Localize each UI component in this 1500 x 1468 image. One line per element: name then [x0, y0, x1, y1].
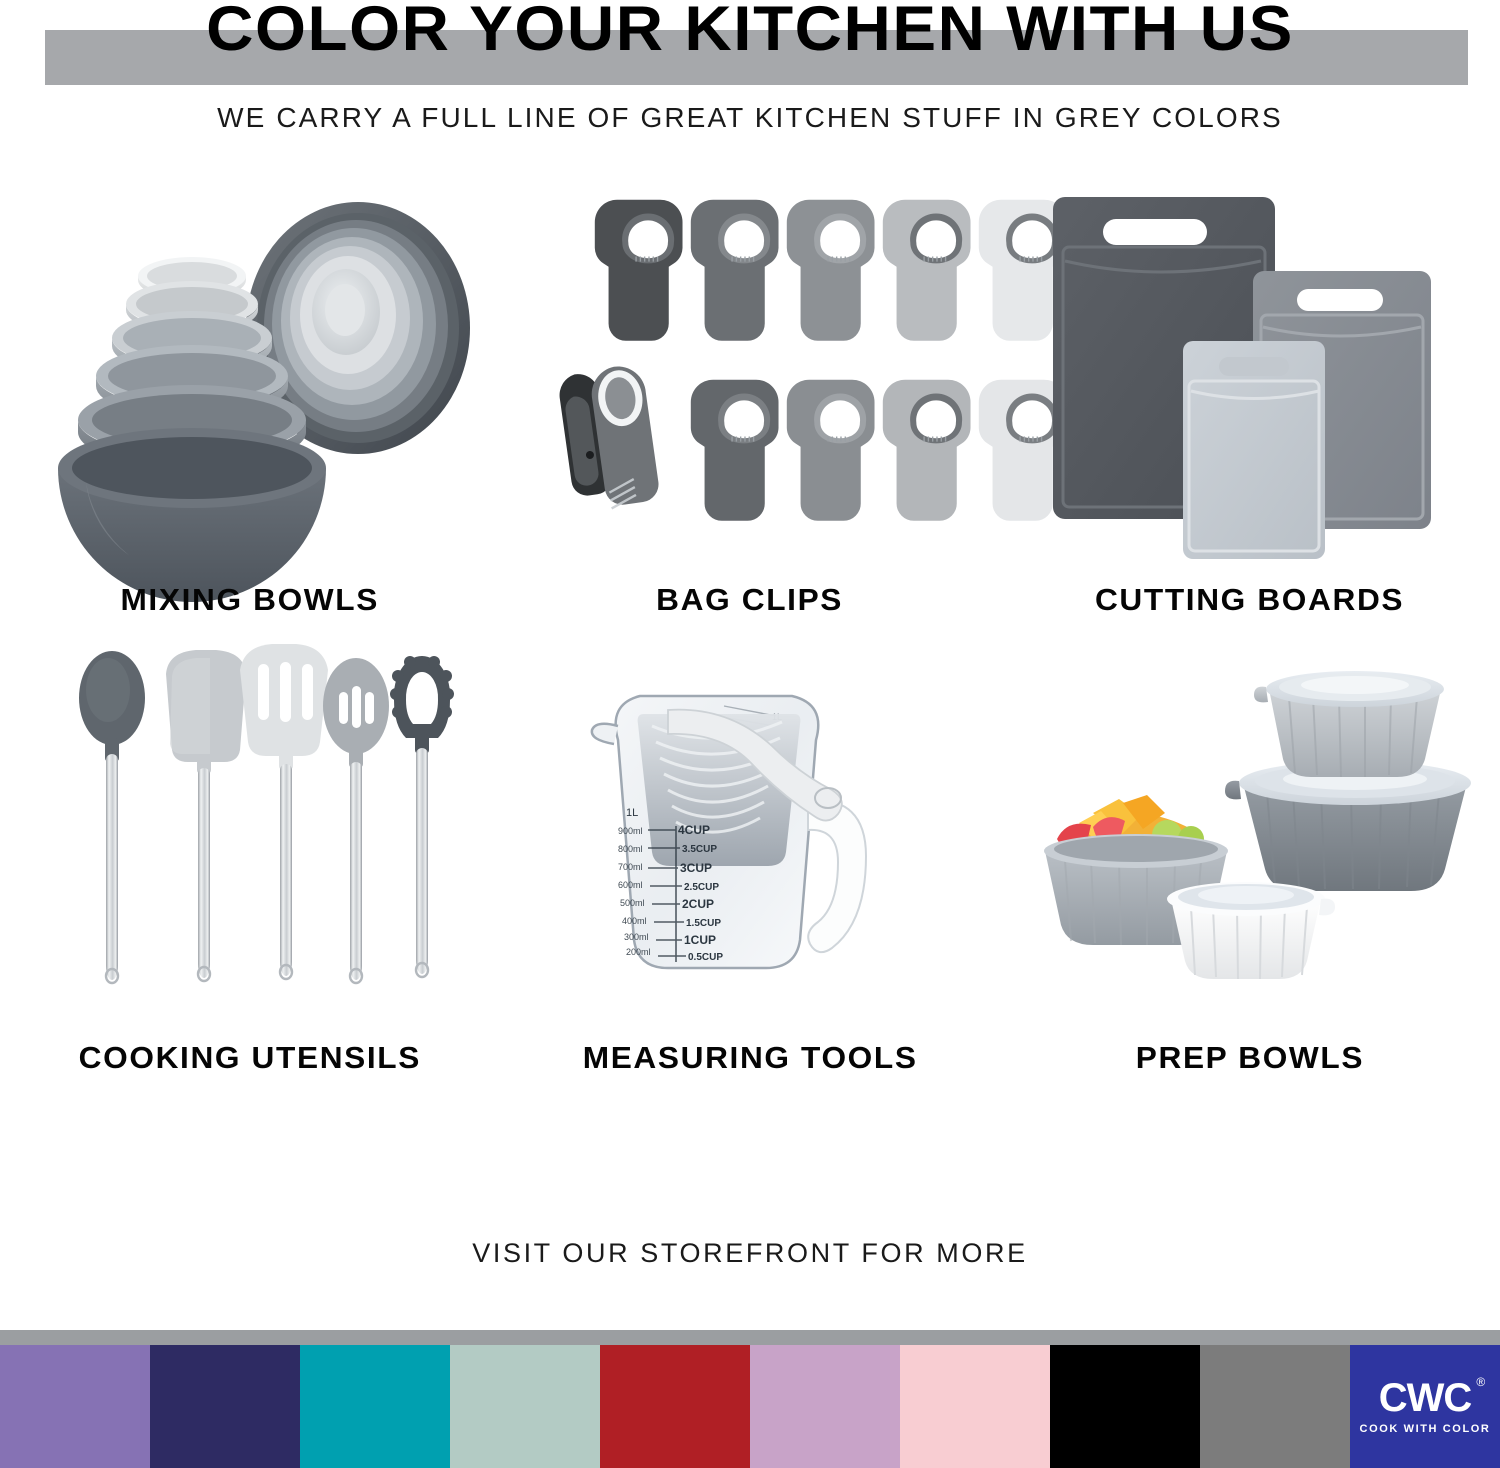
brand-logo[interactable]: CWC ® COOK WITH COLOR — [1350, 1345, 1500, 1468]
grad-ml-7: 200ml — [626, 947, 651, 957]
color-strip: CWC ® COOK WITH COLOR — [0, 1330, 1500, 1468]
grad-cup-5: 1.5CUP — [686, 918, 721, 929]
grad-ml-2: 700ml — [618, 862, 643, 872]
swatch-purple — [0, 1345, 150, 1468]
page-header: COLOR YOUR KITCHEN WITH US WE CARRY A FU… — [0, 0, 1500, 150]
color-swatches: CWC ® COOK WITH COLOR — [0, 1345, 1500, 1468]
product-card-measuring-tools[interactable]: 1L — [500, 618, 1000, 1076]
cooking-utensils-image — [20, 618, 480, 1038]
grad-ml-0: 900ml — [618, 826, 643, 836]
grad-cup-3: 2.5CUP — [684, 882, 719, 893]
product-card-prep-bowls[interactable]: PREP BOWLS — [1000, 618, 1500, 1076]
registered-trademark-icon: ® — [1476, 1376, 1484, 1388]
logo-wordmark: CWC ® — [1379, 1378, 1472, 1418]
swatch-grey — [1200, 1345, 1350, 1468]
page-title: COLOR YOUR KITCHEN WITH US — [0, 0, 1500, 61]
utensil-spatula — [166, 650, 246, 981]
product-label: MIXING BOWLS — [121, 582, 379, 618]
cutting-boards-image — [1020, 160, 1480, 580]
product-row-2: COOKING UTENSILS — [0, 618, 1500, 1076]
prep-bowl-large-dark — [1225, 761, 1471, 891]
grad-ml-4: 500ml — [620, 898, 645, 908]
product-label: MEASURING TOOLS — [583, 1040, 918, 1076]
bag-clip-row-bottom — [691, 380, 1067, 521]
swatch-blush-pink — [900, 1345, 1050, 1468]
utensil-slotted-spoon — [323, 658, 389, 983]
utensil-pasta-server — [390, 656, 454, 977]
strip-top-grey-bar — [0, 1330, 1500, 1345]
product-grid: MIXING BOWLS — [0, 160, 1500, 1076]
cutting-board-small — [1183, 341, 1325, 559]
logo-tagline: COOK WITH COLOR — [1360, 1423, 1491, 1435]
grad-1l: 1L — [626, 807, 638, 819]
measuring-tools-image: 1L — [520, 618, 980, 1038]
grad-ml-5: 400ml — [622, 916, 647, 926]
product-label: BAG CLIPS — [657, 582, 844, 618]
mixing-bowls-image — [20, 160, 480, 580]
grad-cup-6: 1CUP — [684, 933, 716, 947]
grad-cup-1: 3.5CUP — [682, 844, 717, 855]
product-row-1: MIXING BOWLS — [0, 160, 1500, 618]
swatch-teal — [300, 1345, 450, 1468]
product-card-bag-clips[interactable]: BAG CLIPS — [500, 160, 1000, 618]
bag-clip-side-view — [556, 363, 661, 514]
grad-cup-4: 2CUP — [682, 897, 714, 911]
bag-clip-row-top — [595, 200, 1067, 341]
utensil-slotted-turner — [240, 644, 328, 979]
product-label: CUTTING BOARDS — [1095, 582, 1404, 618]
page-subtitle: WE CARRY A FULL LINE OF GREAT KITCHEN ST… — [0, 102, 1500, 134]
grad-ml-1: 800ml — [618, 844, 643, 854]
storefront-callout[interactable]: VISIT OUR STOREFRONT FOR MORE — [0, 1238, 1500, 1269]
grad-cup-2: 3CUP — [680, 861, 712, 875]
product-label: PREP BOWLS — [1136, 1040, 1364, 1076]
prep-bowl-small-white — [1167, 882, 1335, 979]
product-card-cooking-utensils[interactable]: COOKING UTENSILS — [0, 618, 500, 1076]
product-card-cutting-boards[interactable]: CUTTING BOARDS — [1000, 160, 1500, 618]
swatch-black — [1050, 1345, 1200, 1468]
grad-ml-3: 600ml — [618, 880, 643, 890]
logo-text: CWC — [1379, 1376, 1472, 1420]
prep-bowl-medium-light — [1254, 671, 1444, 777]
bag-clips-image — [520, 160, 980, 580]
product-label: COOKING UTENSILS — [79, 1040, 421, 1076]
grad-cup-0: 4CUP — [678, 823, 710, 837]
prep-bowls-image — [1020, 618, 1480, 1038]
product-card-mixing-bowls[interactable]: MIXING BOWLS — [0, 160, 500, 618]
swatch-mauve — [750, 1345, 900, 1468]
grad-ml-6: 300ml — [624, 932, 649, 942]
grad-cup-7: 0.5CUP — [688, 952, 723, 963]
swatch-navy — [150, 1345, 300, 1468]
swatch-sage — [450, 1345, 600, 1468]
swatch-red — [600, 1345, 750, 1468]
utensil-spoon — [79, 651, 145, 983]
